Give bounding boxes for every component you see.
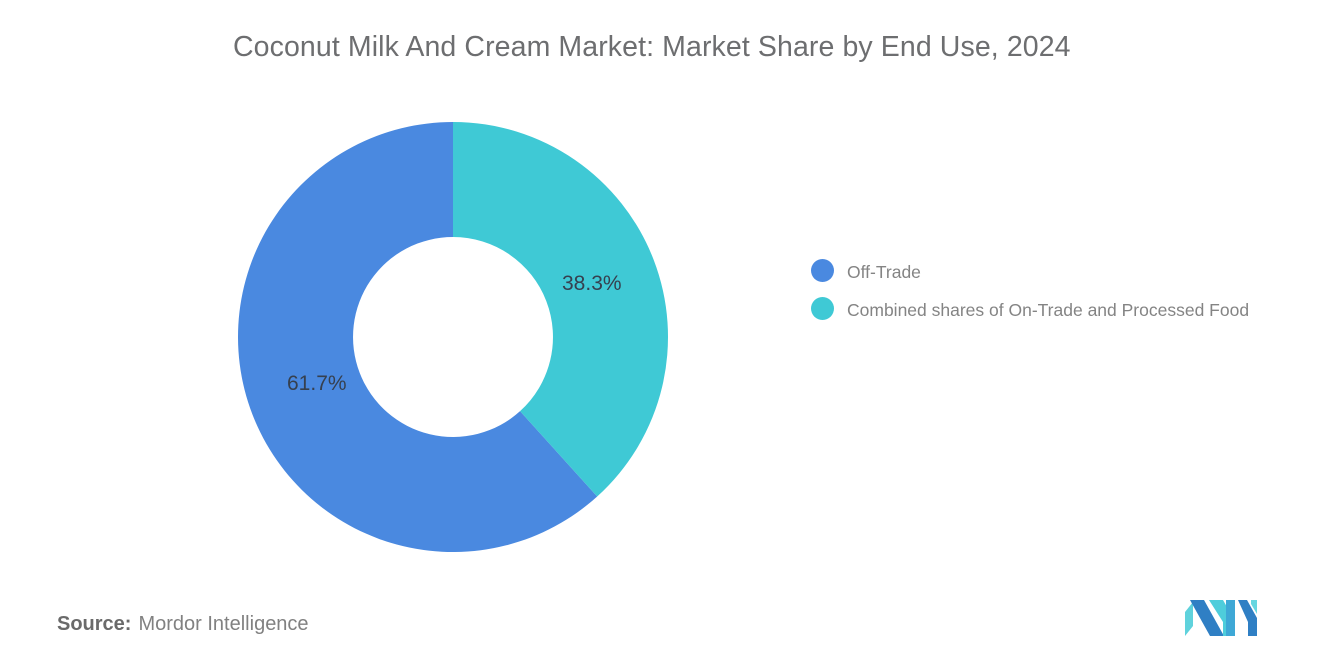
donut-chart-svg bbox=[232, 116, 674, 558]
source-line: Source:Mordor Intelligence bbox=[57, 613, 309, 636]
legend-swatch-circle-icon bbox=[811, 259, 834, 282]
legend-item-label: Off-Trade bbox=[847, 258, 921, 286]
source-value: Mordor Intelligence bbox=[138, 613, 308, 635]
chart-title: Coconut Milk And Cream Market: Market Sh… bbox=[233, 31, 1233, 64]
legend-item-on-trade-processed-food[interactable]: Combined shares of On-Trade and Processe… bbox=[811, 296, 1311, 324]
chart-legend: Off-Trade Combined shares of On-Trade an… bbox=[811, 258, 1311, 334]
legend-item-label: Combined shares of On-Trade and Processe… bbox=[847, 296, 1249, 324]
slice-data-label-on-trade-processed-food: 38.3% bbox=[562, 272, 622, 296]
slice-data-label-off-trade: 61.7% bbox=[287, 372, 347, 396]
legend-item-off-trade[interactable]: Off-Trade bbox=[811, 258, 1311, 286]
source-label: Source: bbox=[57, 613, 131, 635]
donut-chart: 38.3% 61.7% bbox=[232, 116, 674, 558]
legend-swatch-circle-icon bbox=[811, 297, 834, 320]
mordor-intelligence-logo-icon bbox=[1185, 598, 1257, 638]
